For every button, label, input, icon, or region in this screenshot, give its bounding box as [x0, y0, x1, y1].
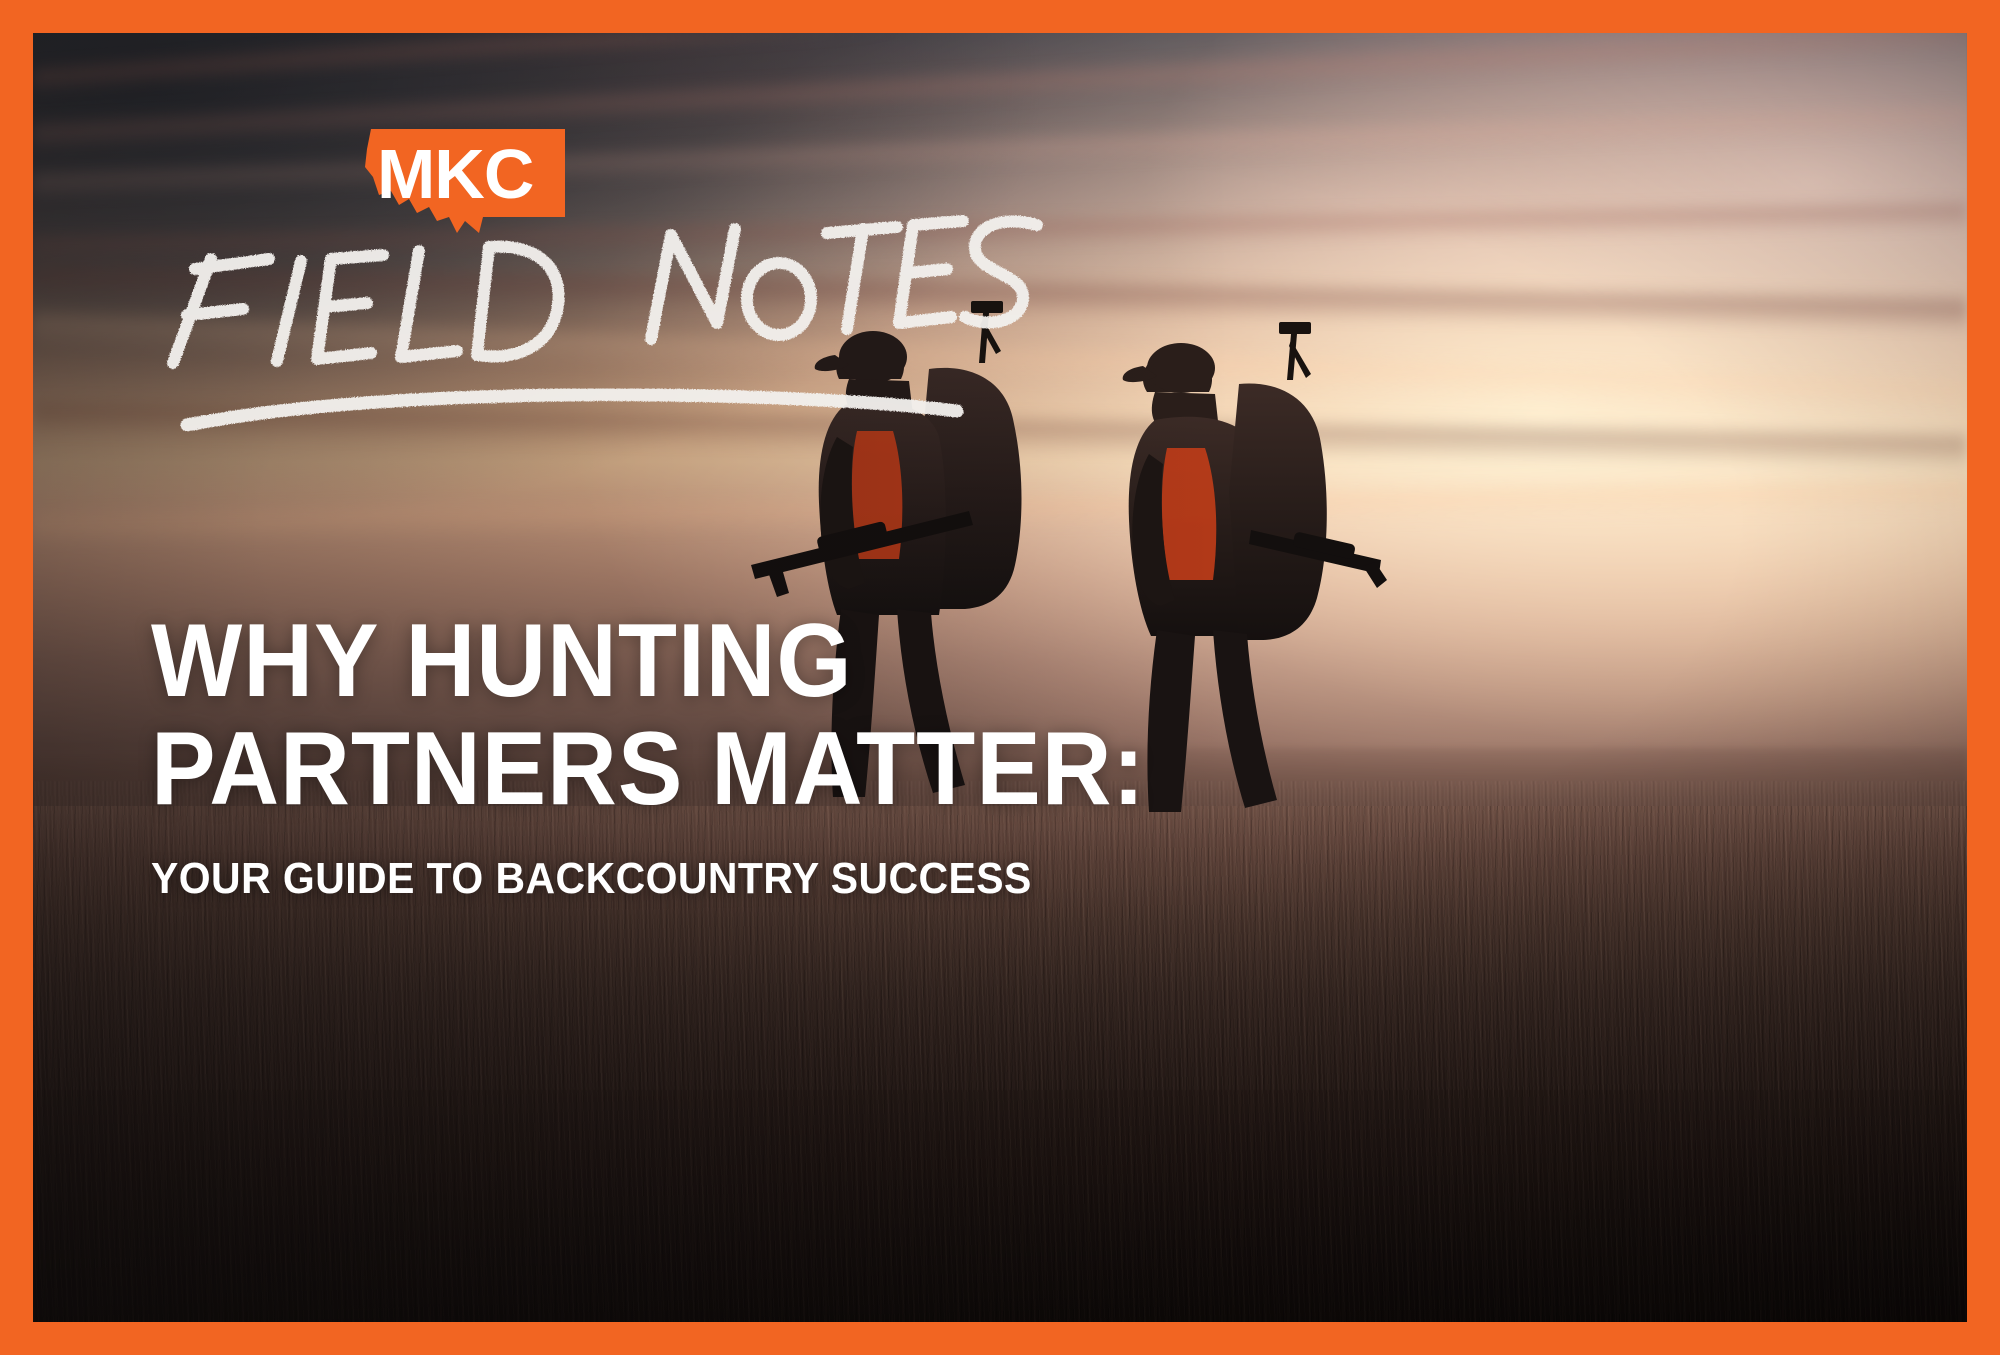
headline-line-2: PARTNERS MATTER: [151, 715, 1267, 823]
mkc-wordmark: MKC [377, 139, 533, 209]
hero-photo: MKC [33, 33, 1967, 1322]
field-notes-blog-hero: MKC [0, 0, 2000, 1355]
chalk-underline [187, 395, 957, 425]
headline-line-1: WHY HUNTING [151, 607, 1267, 715]
field-notes-wordmark [151, 211, 791, 361]
headline-block: WHY HUNTING PARTNERS MATTER: YOUR GUIDE … [151, 607, 1351, 904]
subtitle: YOUR GUIDE TO BACKCOUNTRY SUCCESS [151, 855, 1267, 903]
